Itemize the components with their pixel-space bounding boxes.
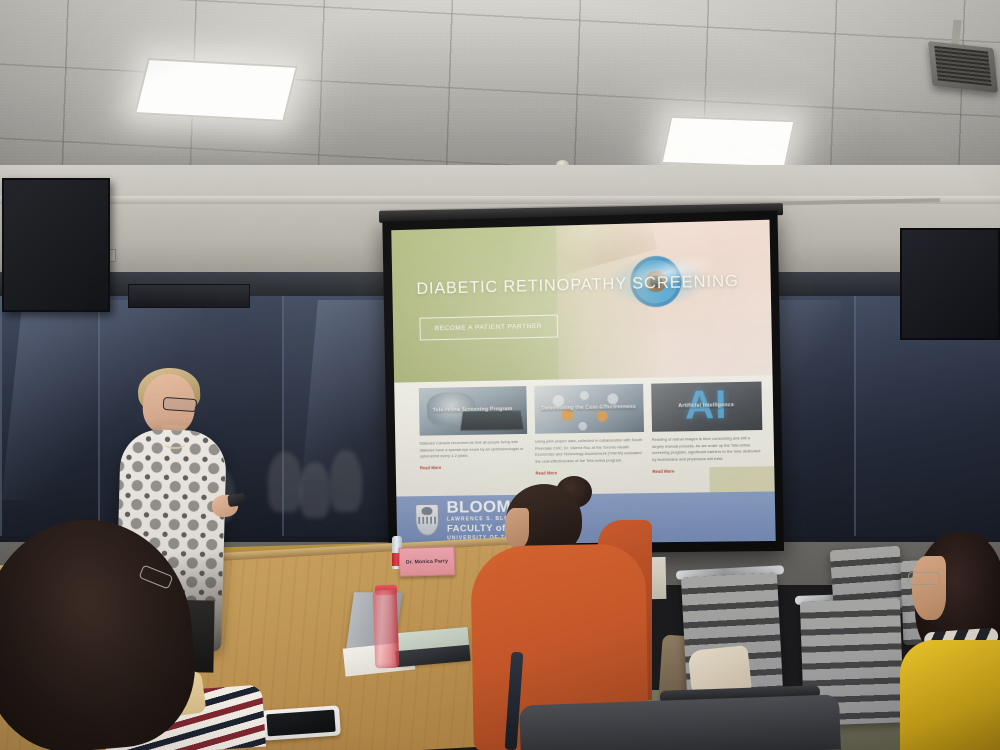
card-body-text: Reading of retinal images is time consum…	[652, 435, 763, 464]
slide-hero-section: DIABETIC RETINOPATHY SCREENING BECOME A …	[391, 220, 772, 383]
glass-reflection-person	[330, 450, 362, 512]
card-image-tele-retina: Tele-retina Screening Program	[418, 386, 526, 436]
card-image-label: Artificial Intelligence	[675, 403, 737, 410]
attendee-right-yellow-top	[900, 640, 1000, 750]
pink-water-bottle	[373, 590, 400, 669]
glass-reflection-person	[268, 452, 302, 512]
attendee-center-face	[505, 508, 529, 548]
hero-gradient-overlay	[391, 223, 665, 383]
become-a-patient-partner-button[interactable]: BECOME A PATIENT PARTNER	[419, 315, 558, 341]
wall-speaker-right	[900, 228, 1000, 340]
white-smartphone[interactable]	[261, 705, 341, 740]
ceiling-light-panel-left	[134, 58, 298, 122]
presenter-necklace	[164, 438, 186, 449]
conference-room-photo: DIABETIC RETINOPATHY SCREENING BECOME A …	[0, 0, 1000, 750]
glass-reflection-person	[300, 462, 330, 518]
ceiling-light-panel-right	[660, 116, 795, 168]
wall-speaker-left	[2, 178, 110, 312]
read-more-link[interactable]: Read More	[535, 469, 644, 476]
presentation-clicker[interactable]	[227, 493, 246, 507]
cards-row: Tele-retina Screening Program Diabetes C…	[418, 381, 763, 491]
read-more-link[interactable]: Read More	[420, 464, 528, 471]
attendee-right-glasses-icon	[908, 572, 940, 585]
card-tele-retina[interactable]: Tele-retina Screening Program Diabetes C…	[418, 386, 527, 491]
wall-mounted-equipment	[128, 284, 250, 308]
card-image-cost-effectiveness: Determining the Cost-Effectiveness	[534, 384, 644, 434]
card-image-label: Tele-retina Screening Program	[430, 407, 516, 414]
attendee-right-face	[912, 556, 946, 620]
ceiling-projector	[928, 41, 998, 93]
card-artificial-intelligence[interactable]: Artificial Intelligence Reading of retin…	[651, 381, 763, 488]
card-image-label: Determining the Cost-Effectiveness	[539, 405, 639, 413]
card-body-text: Diabetes Canada recommends that all peop…	[419, 439, 527, 461]
glass-pane	[0, 296, 100, 536]
name-tent-card: Dr. Monica Parry	[399, 546, 456, 577]
card-cost-effectiveness[interactable]: Determining the Cost-Effectiveness Using…	[534, 384, 645, 490]
card-image-artificial-intelligence: Artificial Intelligence	[651, 381, 762, 431]
read-more-link[interactable]: Read More	[652, 467, 762, 474]
card-body-text: Using pilot project data, collected in c…	[535, 437, 644, 466]
name-tent-label: Dr. Monica Parry	[406, 558, 448, 565]
presenter-glasses-icon	[163, 397, 198, 412]
university-crest-icon	[415, 504, 439, 536]
